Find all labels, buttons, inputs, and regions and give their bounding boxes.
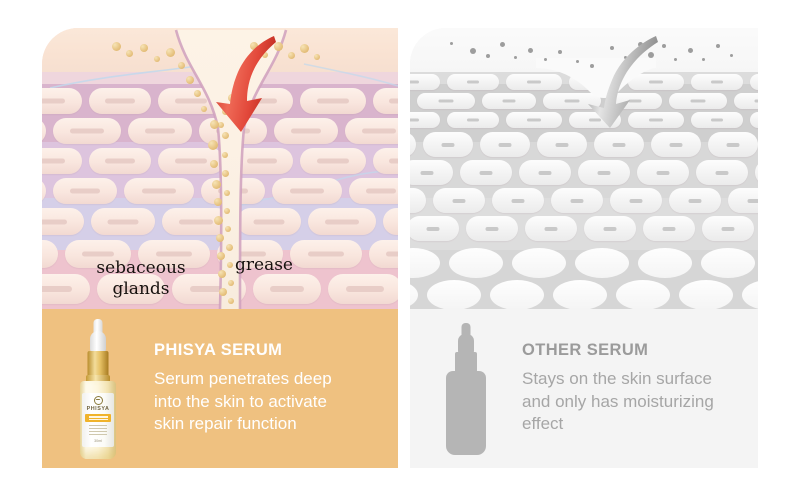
skin-cell xyxy=(651,132,701,157)
skin-cell xyxy=(345,118,398,144)
skin-cell xyxy=(669,93,727,109)
caption-body-other: Stays on the skin surface and only has m… xyxy=(522,368,744,435)
caption-text-left: PHISYA SERUM Serum penetrates deep into … xyxy=(154,341,398,435)
skin-cross-section-right xyxy=(410,28,758,309)
label-grease: grease xyxy=(235,255,345,276)
caption-text-right: OTHER SERUM Stays on the skin surface an… xyxy=(522,341,758,435)
skin-cell xyxy=(696,160,748,185)
skin-cell xyxy=(460,160,512,185)
fat-cell xyxy=(679,280,733,309)
caption-body-phisya: Serum penetrates deep into the skin to a… xyxy=(154,368,384,435)
skin-cell xyxy=(750,74,758,90)
skin-cell xyxy=(53,178,117,204)
fat-cell xyxy=(410,248,440,278)
skin-cell xyxy=(410,216,459,241)
skin-cell xyxy=(410,132,416,157)
skin-cross-section-left: sebaceous glands grease xyxy=(42,28,398,309)
skin-cell xyxy=(42,240,58,268)
skin-cell xyxy=(373,148,398,174)
skin-cell xyxy=(417,93,475,109)
bottle-label-textlines xyxy=(89,425,107,437)
skin-cell xyxy=(410,160,453,185)
skin-cell xyxy=(734,93,758,109)
caption-phisya: PHISYA 30ml PHISYA SERUM Serum penetrate… xyxy=(42,309,398,468)
skin-cell xyxy=(750,112,758,128)
skin-cell xyxy=(42,88,82,114)
skin-cell xyxy=(369,240,398,268)
phisya-bottle-image: PHISYA 30ml xyxy=(42,309,154,468)
serum-bottle-icon: PHISYA 30ml xyxy=(79,319,117,459)
skin-cell xyxy=(755,160,758,185)
label-sebaceous-glands: sebaceous glands xyxy=(66,258,216,299)
skin-cell xyxy=(53,118,121,144)
skin-cell xyxy=(708,132,758,157)
skin-cell xyxy=(308,208,376,235)
skin-cell xyxy=(89,88,151,114)
fat-cell xyxy=(449,248,503,278)
gray-dropper-bottle-icon xyxy=(446,323,486,455)
skin-cell xyxy=(480,132,530,157)
bottle-label: PHISYA 30ml xyxy=(82,393,114,447)
caption-title-phisya: PHISYA SERUM xyxy=(154,341,384,360)
skin-cell xyxy=(482,93,536,109)
panel-phisya-serum: sebaceous glands grease PHISYA xyxy=(42,28,398,468)
gray-down-arrow-icon xyxy=(560,34,670,130)
eye-logo-icon xyxy=(94,396,103,405)
skin-cell xyxy=(42,208,84,235)
dropper-bulb xyxy=(90,331,106,353)
caption-other: OTHER SERUM Stays on the skin surface an… xyxy=(410,309,758,468)
skin-cell xyxy=(300,148,366,174)
fat-cell xyxy=(701,248,755,278)
dropper-bulb xyxy=(458,334,474,354)
skin-cell xyxy=(89,148,151,174)
skin-cell xyxy=(423,132,473,157)
bottle-label-band xyxy=(85,414,111,422)
bottle-gold-collar xyxy=(88,351,109,377)
skin-cell xyxy=(373,88,398,114)
skin-cell xyxy=(691,112,743,128)
skin-cell xyxy=(349,178,398,204)
skin-cell xyxy=(410,112,440,128)
bottle-body xyxy=(446,371,486,455)
panel-other-serum: OTHER SERUM Stays on the skin surface an… xyxy=(410,28,758,468)
caption-title-other: OTHER SERUM xyxy=(522,341,744,360)
skin-cell xyxy=(383,208,398,235)
skin-cell xyxy=(433,188,485,213)
skin-cell xyxy=(466,216,518,241)
fat-cell xyxy=(742,280,758,309)
skin-cell xyxy=(410,74,440,90)
skin-cell xyxy=(447,74,499,90)
skin-cell xyxy=(702,216,754,241)
skin-cell xyxy=(728,188,758,213)
skin-cell xyxy=(300,88,366,114)
skin-cell xyxy=(42,148,82,174)
skin-cell xyxy=(691,74,743,90)
other-bottle-image xyxy=(410,309,522,468)
skin-cell xyxy=(42,178,46,204)
red-down-arrow-icon xyxy=(188,32,298,142)
skin-cell xyxy=(328,274,398,304)
skin-cell xyxy=(669,188,721,213)
fat-cell xyxy=(410,280,418,309)
infographic-canvas: sebaceous glands grease PHISYA xyxy=(0,0,800,492)
skin-cell xyxy=(410,188,426,213)
skin-cell xyxy=(447,112,499,128)
skin-cell xyxy=(91,208,155,235)
skin-cell xyxy=(42,118,46,144)
fat-cell xyxy=(427,280,481,309)
